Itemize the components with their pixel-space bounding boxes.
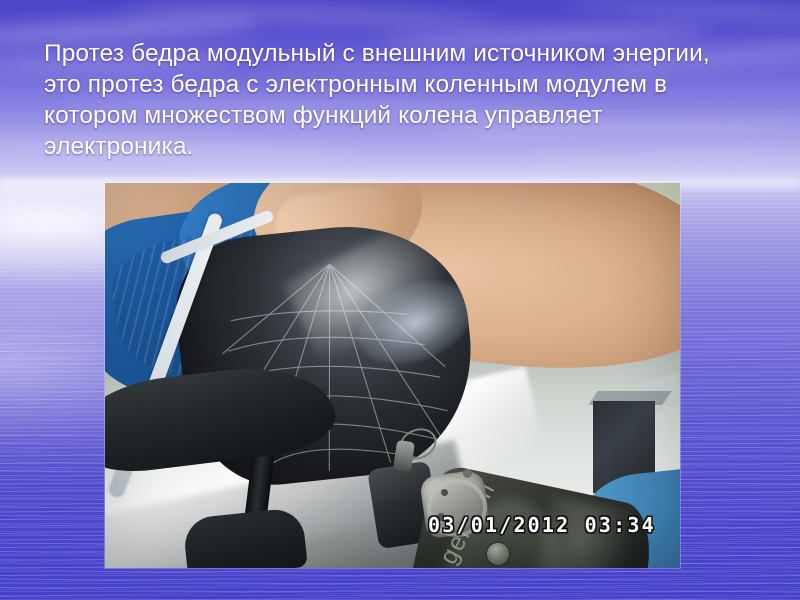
slide-caption-text: Протез бедра модульный с внешним источни… [44, 38, 716, 162]
photo-timestamp: 03/01/2012 03:34 [428, 513, 656, 537]
clamp-bolt [441, 489, 448, 496]
clamp-bolt [463, 469, 472, 478]
prosthetic-knee-photo: genium 03/01/2012 03:34 [105, 183, 680, 568]
slide-canvas: Протез бедра модульный с внешним источни… [0, 0, 800, 600]
